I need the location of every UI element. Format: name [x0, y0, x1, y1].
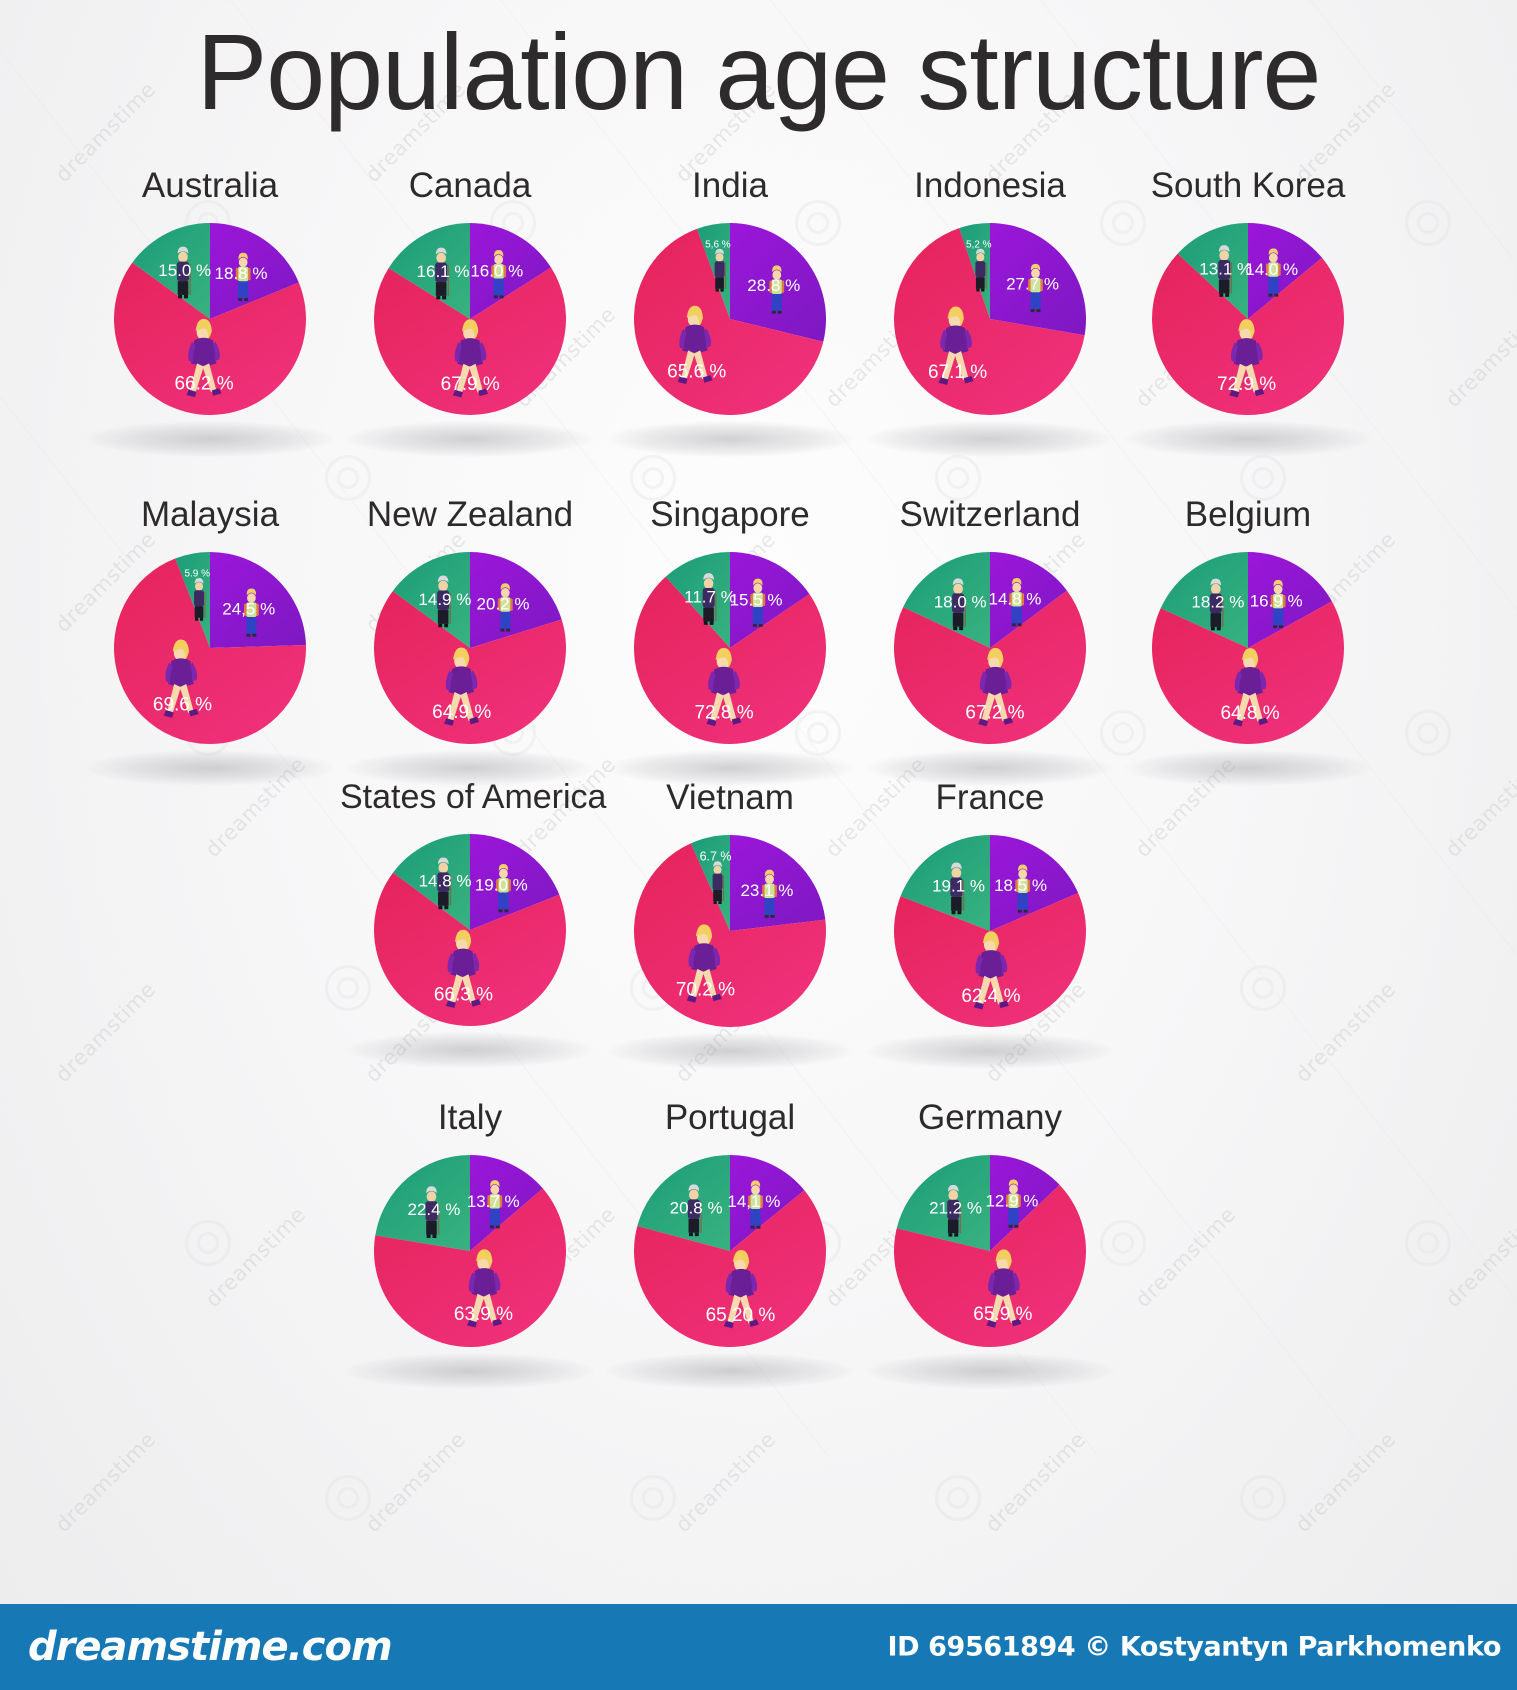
pie-chart-indonesia[interactable]: 5,2 %27.7 %67.1 % — [860, 209, 1120, 424]
pie-chart-card: Portugal20.8 %14,1 %65.20 % — [600, 1100, 860, 1359]
pie-drop-shadow — [86, 750, 334, 786]
slice-label-working-age: 67.9 % — [441, 374, 500, 395]
slice-label-working-age: 72.8 % — [694, 703, 753, 724]
pie-wrapper: 21.2 %12.9 %65.9 % — [860, 1141, 1120, 1359]
pie-wrapper: 14.8 %19.0 %66.3 % — [340, 820, 600, 1038]
image-credit: ID 69561894 © Kostyantyn Parkhomenko — [888, 1632, 1501, 1663]
pie-chart-card: France19.1 %18.5 %62.4 % — [860, 780, 1120, 1039]
dreamstime-logo-text: dreamstime.com — [28, 1624, 392, 1670]
pie-chart-india[interactable]: 5,6 %28.8 %65.6 % — [600, 209, 860, 424]
slice-label-elderly: 22.4 % — [408, 1200, 461, 1219]
pie-drop-shadow — [1124, 750, 1372, 786]
country-label: Germany — [860, 1100, 1120, 1135]
pie-drop-shadow — [1124, 421, 1372, 457]
slice-label-youth: 27.7 % — [1006, 275, 1059, 294]
pie-chart-south-korea[interactable]: 13.1 %14.0 %72.9 % — [1118, 209, 1378, 424]
pie-chart-france[interactable]: 19.1 %18.5 %62.4 % — [860, 821, 1120, 1036]
slice-label-elderly: 14.8 % — [419, 872, 472, 891]
pie-wrapper: 6.7 %23.1 %70.2 % — [600, 821, 860, 1039]
pie-chart-belgium[interactable]: 18.2 %16.9 %64.8 % — [1118, 538, 1378, 753]
pie-drop-shadow — [866, 1353, 1114, 1389]
pie-wrapper: 15.0 %18.8 %66.2 % — [80, 209, 340, 427]
slice-label-youth: 24,5 % — [222, 599, 275, 618]
pie-chart-card: States of America14.8 %19.0 %66.3 % — [340, 780, 600, 1038]
slice-label-youth: 14.0 % — [1245, 260, 1298, 279]
slice-label-working-age: 62.4 % — [961, 986, 1020, 1007]
pie-chart-card: Indonesia5,2 %27.7 %67.1 % — [860, 168, 1120, 427]
country-label: Canada — [340, 168, 600, 203]
pie-wrapper: 14.9 %20.2 %64.9 % — [340, 538, 600, 756]
pie-chart-card: Australia15.0 %18.8 %66.2 % — [80, 168, 340, 427]
slice-label-youth: 14.8 % — [988, 590, 1041, 609]
pie-drop-shadow — [866, 1033, 1114, 1069]
pie-drop-shadow — [346, 750, 594, 786]
slice-label-working-age: 65.9 % — [973, 1304, 1032, 1325]
pie-wrapper: 18.0 %14.8 %67.2 % — [860, 538, 1120, 756]
pie-drop-shadow — [346, 421, 594, 457]
slice-label-youth: 12.9 % — [985, 1191, 1038, 1210]
slice-label-youth: 15.5 % — [730, 590, 783, 609]
slice-label-elderly: 18.2 % — [1191, 593, 1244, 612]
pie-wrapper: 18.2 %16.9 %64.8 % — [1118, 538, 1378, 756]
slice-label-working-age: 64.8 % — [1220, 703, 1279, 724]
slice-label-elderly: 19.1 % — [932, 877, 985, 896]
slice-label-working-age: 70.2 % — [676, 979, 735, 1000]
country-label: Singapore — [600, 497, 860, 532]
pie-wrapper: 13.1 %14.0 %72.9 % — [1118, 209, 1378, 427]
slice-label-elderly: 5,2 % — [966, 239, 992, 250]
pie-chart-italy[interactable]: 22.4 %13.7 %63.9 % — [340, 1141, 600, 1356]
pie-chart-card: India5,6 %28.8 %65.6 % — [600, 168, 860, 427]
pie-wrapper: 5.9 %24,5 %69.6 % — [80, 538, 340, 756]
slice-label-youth: 14,1 % — [727, 1192, 780, 1211]
pie-chart-grid: Australia15.0 %18.8 %66.2 %Canada16.1 %1… — [0, 0, 1517, 1690]
slice-label-elderly: 21.2 % — [929, 1199, 982, 1218]
pie-drop-shadow — [606, 750, 854, 786]
slice-label-youth: 28.8 % — [747, 276, 800, 295]
pie-chart-switzerland[interactable]: 18.0 %14.8 %67.2 % — [860, 538, 1120, 753]
slice-label-elderly: 20.8 % — [670, 1198, 723, 1217]
pie-drop-shadow — [606, 421, 854, 457]
pie-drop-shadow — [606, 1033, 854, 1069]
pie-chart-card: Belgium18.2 %16.9 %64.8 % — [1118, 497, 1378, 756]
pie-chart-vietnam[interactable]: 6.7 %23.1 %70.2 % — [600, 821, 860, 1036]
pie-chart-card: New Zealand14.9 %20.2 %64.9 % — [340, 497, 600, 756]
slice-label-elderly: 5,6 % — [705, 240, 731, 251]
slice-label-working-age: 69.6 % — [153, 695, 212, 716]
slice-label-working-age: 64.9 % — [432, 702, 491, 723]
pie-wrapper: 11.7 %15.5 %72.8 % — [600, 538, 860, 756]
pie-chart-card: Germany21.2 %12.9 %65.9 % — [860, 1100, 1120, 1359]
country-label: India — [600, 168, 860, 203]
slice-label-elderly: 5.9 % — [184, 569, 210, 580]
pie-chart-singapore[interactable]: 11.7 %15.5 %72.8 % — [600, 538, 860, 753]
slice-label-youth: 19.0 % — [475, 875, 528, 894]
pie-wrapper: 20.8 %14,1 %65.20 % — [600, 1141, 860, 1359]
pie-wrapper: 5,6 %28.8 %65.6 % — [600, 209, 860, 427]
pie-chart-australia[interactable]: 15.0 %18.8 %66.2 % — [80, 209, 340, 424]
country-label: Italy — [340, 1100, 600, 1135]
slice-label-working-age: 63.9 % — [454, 1304, 513, 1325]
slice-label-working-age: 67.2 % — [965, 703, 1024, 724]
pie-chart-states-of-america[interactable]: 14.8 %19.0 %66.3 % — [340, 820, 600, 1035]
country-label: Malaysia — [80, 497, 340, 532]
slice-label-working-age: 66.2 % — [174, 374, 233, 395]
slice-label-youth: 23.1 % — [740, 881, 793, 900]
country-label: Belgium — [1118, 497, 1378, 532]
pie-chart-malaysia[interactable]: 5.9 %24,5 %69.6 % — [80, 538, 340, 753]
slice-label-working-age: 65.20 % — [706, 1305, 776, 1326]
slice-label-youth: 16.0 % — [470, 262, 523, 281]
pie-wrapper: 19.1 %18.5 %62.4 % — [860, 821, 1120, 1039]
pie-drop-shadow — [866, 750, 1114, 786]
pie-drop-shadow — [606, 1353, 854, 1389]
pie-drop-shadow — [346, 1032, 594, 1068]
dreamstime-logo: ®dreamstime.com — [14, 1624, 392, 1670]
pie-wrapper: 22.4 %13.7 %63.9 % — [340, 1141, 600, 1359]
pie-wrapper: 16.1 %16.0 %67.9 % — [340, 209, 600, 427]
pie-chart-germany[interactable]: 21.2 %12.9 %65.9 % — [860, 1141, 1120, 1356]
pie-chart-canada[interactable]: 16.1 %16.0 %67.9 % — [340, 209, 600, 424]
pie-drop-shadow — [346, 1353, 594, 1389]
footer-bar: ®dreamstime.com ID 69561894 © Kostyantyn… — [0, 1604, 1517, 1690]
slice-label-youth: 16.9 % — [1250, 591, 1303, 610]
slice-label-elderly: 14.9 % — [418, 590, 471, 609]
slice-label-youth: 13.7 % — [467, 1192, 520, 1211]
slice-label-youth: 20.2 % — [477, 595, 530, 614]
pie-chart-card: Italy22.4 %13.7 %63.9 % — [340, 1100, 600, 1359]
slice-label-working-age: 66.3 % — [434, 985, 493, 1006]
slice-label-working-age: 65.6 % — [667, 361, 726, 382]
slice-label-youth: 18.5 % — [994, 876, 1047, 895]
slice-label-working-age: 72.9 % — [1217, 374, 1276, 395]
pie-wrapper: 5,2 %27.7 %67.1 % — [860, 209, 1120, 427]
country-label: Portugal — [600, 1100, 860, 1135]
pie-chart-portugal[interactable]: 20.8 %14,1 %65.20 % — [600, 1141, 860, 1356]
country-label: New Zealand — [340, 497, 600, 532]
pie-chart-card: Switzerland18.0 %14.8 %67.2 % — [860, 497, 1120, 756]
pie-chart-card: Malaysia5.9 %24,5 %69.6 % — [80, 497, 340, 756]
slice-label-elderly: 15.0 % — [158, 261, 211, 280]
slice-label-elderly: 11.7 % — [684, 588, 736, 607]
pie-drop-shadow — [86, 421, 334, 457]
country-label: South Korea — [1118, 168, 1378, 203]
pie-chart-card: Singapore11.7 %15.5 %72.8 % — [600, 497, 860, 756]
slice-label-elderly: 6.7 % — [700, 850, 732, 864]
page-title: Population age structure — [15, 8, 1502, 135]
slice-label-working-age: 67.1 % — [928, 362, 987, 383]
pie-chart-card: Vietnam6.7 %23.1 %70.2 % — [600, 780, 860, 1039]
country-label: Indonesia — [860, 168, 1120, 203]
pie-drop-shadow — [866, 421, 1114, 457]
pie-chart-card: South Korea13.1 %14.0 %72.9 % — [1118, 168, 1378, 427]
country-label: Australia — [80, 168, 340, 203]
country-label: Switzerland — [860, 497, 1120, 532]
slice-label-elderly: 16.1 % — [417, 262, 470, 281]
pie-chart-card: Canada16.1 %16.0 %67.9 % — [340, 168, 600, 427]
slice-label-youth: 18.8 % — [215, 264, 268, 283]
pie-chart-new-zealand[interactable]: 14.9 %20.2 %64.9 % — [340, 538, 600, 753]
slice-label-elderly: 18.0 % — [934, 592, 987, 611]
